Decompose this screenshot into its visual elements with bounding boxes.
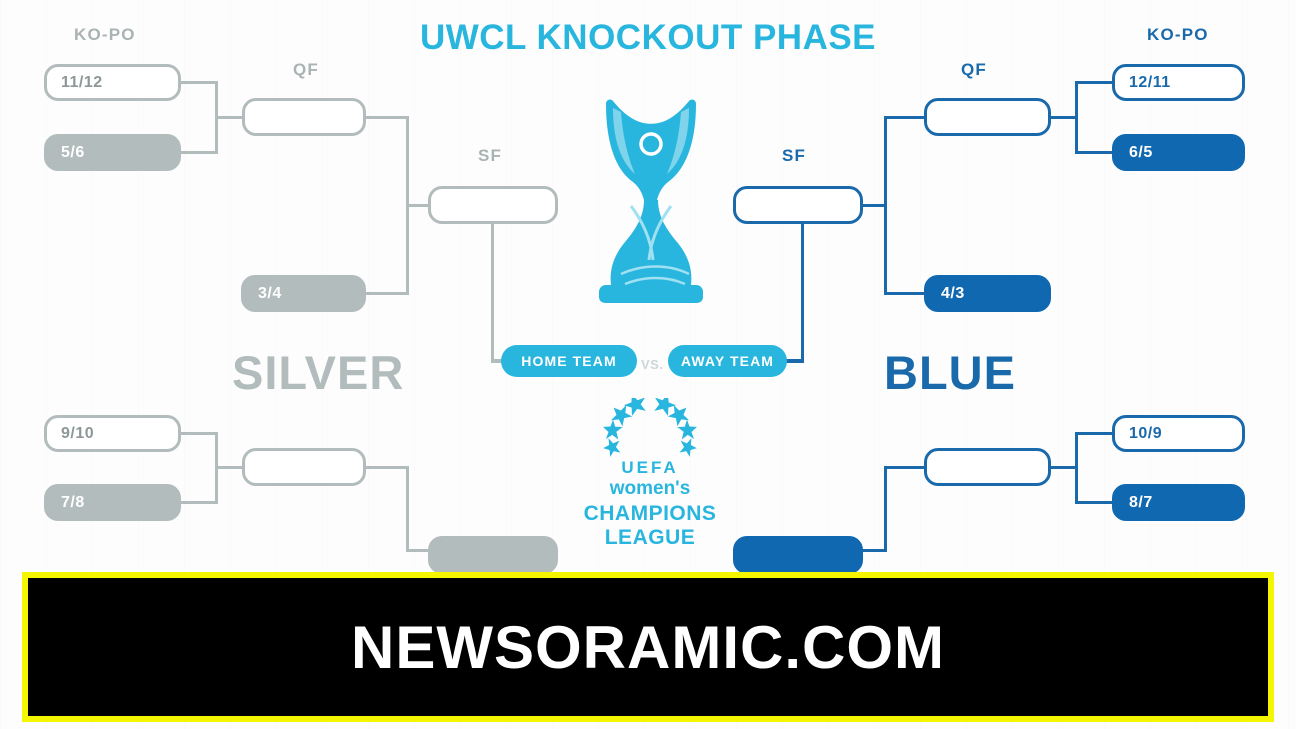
left-ko-po-bottom-slot-1[interactable]: 9/10 [44, 415, 181, 452]
logo-champions-text: CHAMPIONS [566, 502, 734, 526]
page-title: UWCL KNOCKOUT PHASE [0, 18, 1296, 58]
right-extra-seed-box[interactable]: 4/3 [924, 275, 1051, 312]
connector [181, 151, 218, 154]
uefa-wcl-logo: UEFA women's CHAMPIONS LEAGUE [566, 398, 734, 553]
label-left-qf: QF [293, 60, 319, 80]
star-ring-icon [566, 398, 734, 460]
label-right-qf: QF [961, 60, 987, 80]
connector [1075, 501, 1112, 504]
connector [215, 116, 242, 119]
left-qf-top-box[interactable] [242, 98, 366, 136]
left-ko-po-top-slot-2[interactable]: 5/6 [44, 134, 181, 171]
connector [862, 204, 887, 207]
seed-label: 4/3 [927, 285, 965, 303]
watermark-banner: NEWSORAMIC.COM [22, 572, 1274, 722]
logo-uefa-text: UEFA [566, 458, 734, 478]
away-team-slot[interactable]: AWAY TEAM [668, 345, 787, 377]
right-qf-top-box[interactable] [924, 98, 1051, 136]
connector [181, 81, 218, 84]
connector [215, 466, 242, 469]
seed-label: 12/11 [1115, 74, 1171, 92]
logo-womens-text: women's [566, 478, 734, 500]
connector [1050, 116, 1078, 119]
connector [884, 116, 926, 119]
connector [181, 432, 218, 435]
connector [884, 116, 887, 206]
connector [884, 204, 887, 295]
bracket-canvas: UWCL KNOCKOUT PHASE KO-PO QF SF 11/12 5/… [0, 0, 1296, 729]
right-ko-po-top-slot-1[interactable]: 12/11 [1112, 64, 1245, 101]
right-ko-po-top-slot-2[interactable]: 6/5 [1112, 134, 1245, 171]
connector [801, 224, 804, 361]
left-sf-bottom-box[interactable] [428, 536, 558, 574]
connector [491, 224, 494, 361]
connector [406, 116, 409, 206]
connector [181, 501, 218, 504]
connector [884, 466, 887, 552]
seed-label: 10/9 [1115, 425, 1162, 443]
seed-label: 8/7 [1115, 494, 1153, 512]
seed-label: 9/10 [47, 425, 94, 443]
left-extra-seed-box[interactable]: 3/4 [241, 275, 366, 312]
right-ko-po-bottom-slot-2[interactable]: 8/7 [1112, 484, 1245, 521]
left-sf-top-box[interactable] [428, 186, 558, 224]
home-team-slot[interactable]: HOME TEAM [501, 345, 637, 377]
label-right-sf: SF [782, 146, 806, 166]
connector [366, 292, 409, 295]
seed-label: 3/4 [244, 285, 282, 303]
label-left-ko-po: KO-PO [74, 25, 136, 45]
connector [366, 116, 409, 119]
connector [366, 466, 409, 469]
left-ko-po-bottom-slot-2[interactable]: 7/8 [44, 484, 181, 521]
label-left-sf: SF [478, 146, 502, 166]
right-sf-bottom-box[interactable] [733, 536, 863, 574]
connector [884, 292, 926, 295]
seed-label: 6/5 [1115, 144, 1153, 162]
connector [406, 466, 409, 552]
seed-label: 5/6 [47, 144, 85, 162]
seed-label: 11/12 [47, 74, 103, 92]
connector [1075, 151, 1112, 154]
logo-league-text: LEAGUE [566, 526, 734, 550]
right-sf-top-box[interactable] [733, 186, 863, 224]
right-qf-bottom-box[interactable] [924, 448, 1051, 486]
connector [884, 466, 926, 469]
left-ko-po-top-slot-1[interactable]: 11/12 [44, 64, 181, 101]
connector [1075, 432, 1112, 435]
left-qf-bottom-box[interactable] [242, 448, 366, 486]
side-title-blue: BLUE [884, 345, 1016, 400]
vs-label: VS. [641, 357, 663, 372]
right-ko-po-bottom-slot-1[interactable]: 10/9 [1112, 415, 1245, 452]
trophy-icon [573, 82, 728, 307]
connector [406, 204, 409, 295]
connector [862, 549, 887, 552]
connector [1075, 81, 1112, 84]
side-title-silver: SILVER [232, 345, 404, 400]
seed-label: 7/8 [47, 494, 85, 512]
watermark-text: NEWSORAMIC.COM [351, 613, 945, 682]
connector [786, 359, 804, 363]
connector [1050, 466, 1078, 469]
label-right-ko-po: KO-PO [1147, 25, 1209, 45]
